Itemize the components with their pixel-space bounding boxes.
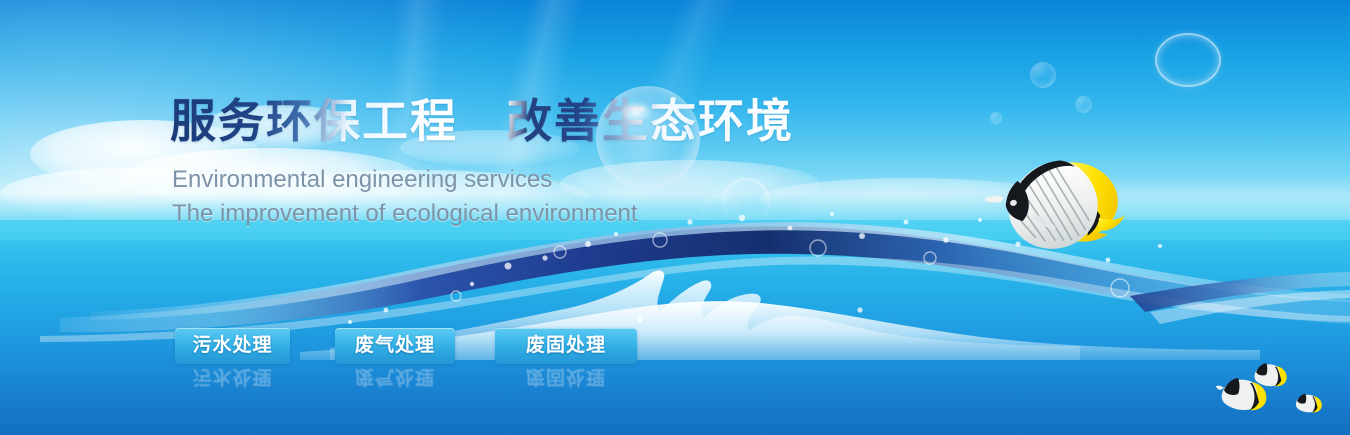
service-button-slot: 废气处理 废气处理 (335, 328, 455, 364)
service-button-solid-waste[interactable]: 废固处理 (495, 328, 637, 364)
page-title: 服务环保工程 改善生态环境 (170, 96, 810, 148)
service-button-slot: 废固处理 废固处理 (495, 328, 637, 364)
bubble-icon (1075, 96, 1092, 113)
subtitle-en-line-2: The improvement of ecological environmen… (172, 198, 810, 230)
butterfly-fish-icon (1250, 360, 1293, 392)
service-button-row: 污水处理 污水处理 废气处理 废气处理 废固处理 废固处理 (175, 328, 637, 364)
service-button-waste-gas[interactable]: 废气处理 (335, 328, 455, 364)
bubble-ring-icon (1155, 33, 1221, 87)
butterfly-fish-icon (985, 142, 1135, 267)
hero-banner: 服务环保工程 改善生态环境 Environmental engineering … (0, 0, 1350, 435)
service-button-wastewater[interactable]: 污水处理 (175, 328, 290, 364)
butterfly-fish-icon (1293, 391, 1328, 417)
bubble-icon (1030, 62, 1056, 88)
subtitle-en-line-1: Environmental engineering services (172, 164, 810, 196)
service-button-slot: 污水处理 污水处理 (175, 328, 290, 364)
headline-block: 服务环保工程 改善生态环境 Environmental engineering … (170, 96, 810, 230)
bubble-icon (990, 112, 1002, 124)
